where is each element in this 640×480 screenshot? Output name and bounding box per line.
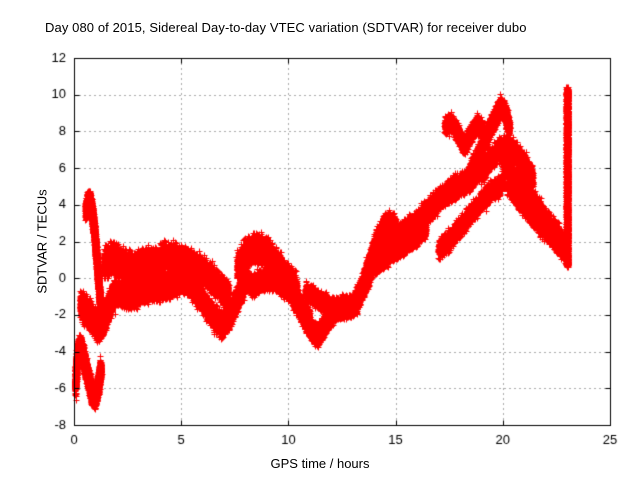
chart-figure: Day 080 of 2015, Sidereal Day-to-day VTE…: [0, 0, 640, 480]
scatter-plot-canvas: [0, 0, 640, 480]
